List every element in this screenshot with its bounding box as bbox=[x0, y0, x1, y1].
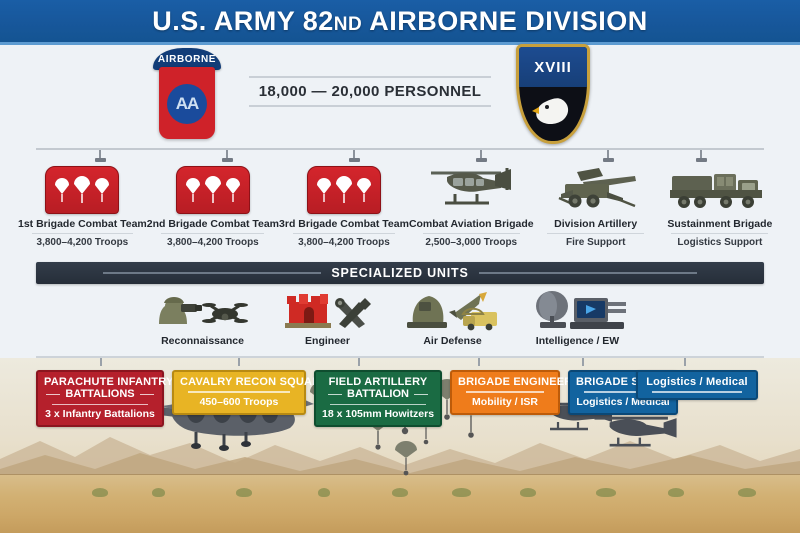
box-divider bbox=[330, 404, 426, 406]
specialized-unit-air-defense[interactable]: Air Defense bbox=[390, 290, 515, 347]
unit-label: Reconnaissance bbox=[161, 335, 244, 347]
band-rule-left bbox=[103, 272, 321, 274]
brigade-strength: 2,500–3,000 Troops bbox=[425, 237, 517, 248]
box-title-line1: BRIGADE ENGINEERS bbox=[458, 376, 552, 388]
missile-air-defense-icon bbox=[401, 290, 505, 332]
dash-right bbox=[140, 394, 154, 396]
divider bbox=[671, 233, 768, 234]
brigade-strength: 3,800–4,200 Troops bbox=[37, 237, 129, 248]
82nd-airborne-division-patch: AIRBORNE AA bbox=[145, 48, 229, 143]
brigade-connector-line bbox=[36, 148, 764, 150]
dash-left bbox=[328, 394, 342, 396]
bush bbox=[392, 488, 408, 497]
parachute-card-icon bbox=[45, 162, 119, 214]
brigade-name: 3rd Brigade Combat Team bbox=[279, 218, 409, 230]
connector-stub bbox=[582, 358, 584, 366]
box-title-line1: Logistics / Medical bbox=[644, 376, 750, 388]
box-subtext: 450–600 Troops bbox=[180, 396, 298, 408]
divider bbox=[32, 233, 132, 234]
brigade-card-sustainment[interactable]: Sustainment Brigade Logistics Support bbox=[658, 162, 782, 248]
bush bbox=[92, 488, 108, 497]
parachute-glyph bbox=[94, 176, 110, 204]
xviii-numeral: XVIII bbox=[534, 59, 572, 76]
bush bbox=[520, 488, 536, 497]
box-subtext: 3 x Infantry Battalions bbox=[44, 408, 156, 420]
brigade-row: 1st Brigade Combat Team 3,800–4,200 Troo… bbox=[18, 162, 782, 248]
page-title-main: U.S. ARMY 82 bbox=[152, 6, 334, 36]
brigade-strength: 3,800–4,200 Troops bbox=[167, 237, 259, 248]
page-title-rest: AIRBORNE DIVISION bbox=[362, 6, 648, 36]
band-rule-right bbox=[479, 272, 697, 274]
bush bbox=[596, 488, 616, 497]
howitzer-icon bbox=[553, 162, 639, 214]
specialized-unit-engineer[interactable]: Engineer bbox=[265, 290, 390, 347]
castle-tools-icon bbox=[281, 290, 375, 332]
xviii-airborne-corps-patch: XVIII bbox=[516, 44, 590, 144]
connector-stub bbox=[100, 358, 102, 366]
subunit-box-row: PARACHUTE INFANTRY BATTALIONS 3 x Infant… bbox=[36, 370, 764, 426]
parachute-glyph bbox=[356, 176, 372, 204]
patch-body: AA bbox=[159, 67, 215, 139]
aa-letters: AA bbox=[176, 94, 199, 114]
bush bbox=[236, 488, 252, 497]
unit-label: Intelligence / EW bbox=[536, 335, 619, 347]
connector-stub bbox=[358, 358, 360, 366]
page-title-ordinal: ND bbox=[334, 14, 362, 35]
brigade-card-division-artillery[interactable]: Division Artillery Fire Support bbox=[534, 162, 658, 248]
divider bbox=[547, 233, 644, 234]
brigade-strength: 3,800–4,200 Troops bbox=[298, 237, 390, 248]
divider bbox=[161, 233, 264, 234]
specialized-units-band: SPECIALIZED UNITS bbox=[36, 262, 764, 284]
parachute-glyph bbox=[185, 176, 201, 204]
subunit-box-field-artillery[interactable]: FIELD ARTILLERY BATTALION 18 x 105mm How… bbox=[314, 370, 442, 427]
brigade-card-combat-aviation[interactable]: Combat Aviation Brigade 2,500–3,000 Troo… bbox=[409, 162, 534, 248]
specialized-unit-intelligence-ew[interactable]: Intelligence / EW bbox=[515, 290, 640, 347]
parachute-card-icon bbox=[307, 162, 381, 214]
rule-bottom bbox=[249, 105, 491, 107]
specialized-unit-reconnaissance[interactable]: Reconnaissance bbox=[140, 290, 265, 347]
connector-stub bbox=[478, 358, 480, 366]
scout-drone-icon bbox=[153, 290, 253, 332]
box-title-line1: FIELD ARTILLERY bbox=[322, 376, 434, 388]
bush bbox=[152, 488, 165, 497]
bush bbox=[668, 488, 684, 497]
box-title-line1: CAVALRY RECON SQUADRON bbox=[180, 376, 298, 388]
infographic-poster: U.S. ARMY 82ND AIRBORNE DIVISION AIRBORN… bbox=[0, 0, 800, 533]
dash-right bbox=[414, 394, 428, 396]
parachute-glyph bbox=[225, 176, 241, 204]
brigade-strength: Fire Support bbox=[566, 237, 625, 248]
subunit-box-logistics-medical[interactable]: Logistics / Medical bbox=[636, 370, 758, 400]
brigade-name: 2nd Brigade Combat Team bbox=[147, 218, 279, 230]
box-divider bbox=[52, 404, 148, 406]
brigade-card-1st-bct[interactable]: 1st Brigade Combat Team 3,800–4,200 Troo… bbox=[18, 162, 147, 248]
parachute-glyph bbox=[316, 176, 332, 204]
box-divider bbox=[188, 391, 290, 393]
brigade-card-2nd-bct[interactable]: 2nd Brigade Combat Team 3,800–4,200 Troo… bbox=[147, 162, 279, 248]
helicopter-icon bbox=[427, 162, 515, 214]
box-divider bbox=[466, 391, 544, 393]
parachute-glyph bbox=[54, 176, 70, 204]
box-title-line2-text: BATTALIONS bbox=[65, 388, 134, 400]
parachute-card-icon bbox=[176, 162, 250, 214]
unit-label: Engineer bbox=[305, 335, 350, 347]
parachute-glyph bbox=[335, 174, 353, 206]
box-title-line1: PARACHUTE INFANTRY bbox=[44, 376, 156, 388]
personnel-value: 18,000 — 20,000 PERSONNEL bbox=[249, 78, 491, 105]
specialized-units-row: Reconnaissance bbox=[140, 290, 640, 347]
bush bbox=[738, 488, 756, 497]
connector-stub bbox=[238, 358, 240, 366]
brigade-name: 1st Brigade Combat Team bbox=[18, 218, 147, 230]
connector-stub bbox=[684, 358, 686, 366]
bush bbox=[452, 488, 471, 497]
radar-computer-icon bbox=[526, 290, 630, 332]
brigade-name: Sustainment Brigade bbox=[667, 218, 772, 230]
brigade-strength: Logistics Support bbox=[677, 237, 762, 248]
box-divider bbox=[652, 391, 742, 393]
specialized-units-title: SPECIALIZED UNITS bbox=[331, 266, 468, 280]
parachute-glyph bbox=[204, 174, 222, 206]
divider bbox=[423, 233, 520, 234]
xviii-banner: XVIII bbox=[519, 47, 587, 87]
box-connector-line bbox=[36, 356, 764, 358]
box-title-line2: BATTALIONS bbox=[44, 388, 156, 400]
poster-header: U.S. ARMY 82ND AIRBORNE DIVISION bbox=[0, 0, 800, 45]
brigade-name: Combat Aviation Brigade bbox=[409, 218, 534, 230]
divider bbox=[293, 233, 394, 234]
subunit-box-cavalry-recon[interactable]: CAVALRY RECON SQUADRON 450–600 Troops bbox=[172, 370, 306, 415]
brigade-name: Division Artillery bbox=[554, 218, 637, 230]
aa-circle: AA bbox=[167, 84, 207, 124]
box-subtext: 18 x 105mm Howitzers bbox=[322, 408, 434, 420]
unit-label: Air Defense bbox=[423, 335, 481, 347]
box-title-line2: BATTALION bbox=[322, 388, 434, 400]
supply-truck-icon bbox=[670, 162, 770, 214]
airborne-tab-label: AIRBORNE bbox=[158, 54, 216, 65]
bush bbox=[318, 488, 330, 497]
brigade-card-3rd-bct[interactable]: 3rd Brigade Combat Team 3,800–4,200 Troo… bbox=[279, 162, 409, 248]
page-title: U.S. ARMY 82ND AIRBORNE DIVISION bbox=[152, 6, 648, 37]
personnel-callout: 18,000 — 20,000 PERSONNEL bbox=[249, 76, 491, 107]
eagle-head-icon bbox=[531, 93, 575, 127]
box-title-line2-text: BATTALION bbox=[347, 388, 409, 400]
subunit-box-brigade-engineers[interactable]: BRIGADE ENGINEERS Mobility / ISR bbox=[450, 370, 560, 415]
parachute-glyph bbox=[73, 174, 91, 206]
subunit-box-parachute-infantry[interactable]: PARACHUTE INFANTRY BATTALIONS 3 x Infant… bbox=[36, 370, 164, 427]
dash-left bbox=[46, 394, 60, 396]
box-subtext: Mobility / ISR bbox=[458, 396, 552, 408]
shield-body: XVIII bbox=[516, 44, 590, 144]
